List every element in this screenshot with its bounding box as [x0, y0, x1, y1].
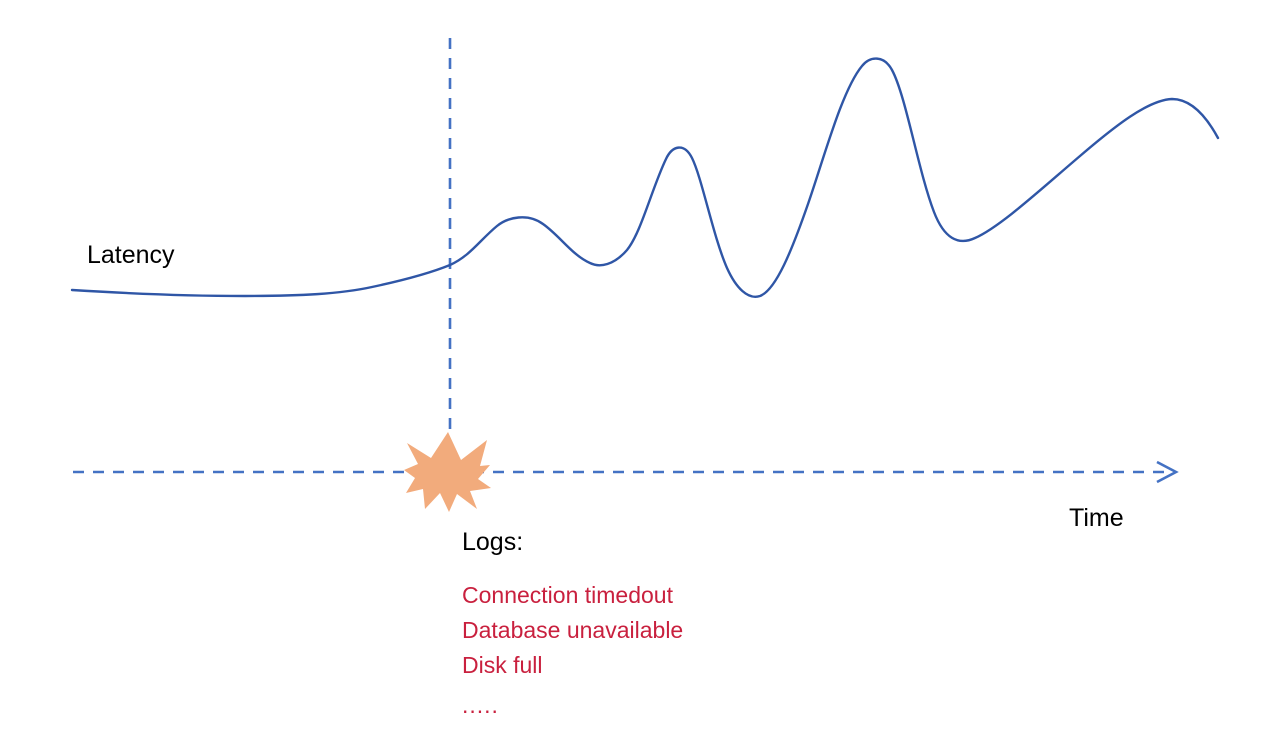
time-axis-label: Time: [1069, 506, 1124, 531]
latency-axis-label: Latency: [87, 243, 175, 268]
time-axis: [73, 462, 1176, 482]
starburst-explosion-icon: [404, 432, 491, 512]
log-entry-ellipsis: .....: [462, 683, 882, 727]
logs-heading: Logs:: [462, 530, 523, 555]
log-entry: Connection timedout: [462, 578, 882, 613]
latency-curve-line: [72, 59, 1218, 297]
log-entry: Database unavailable: [462, 613, 882, 648]
logs-list: Connection timedout Database unavailable…: [462, 578, 882, 727]
log-entry: Disk full: [462, 648, 882, 683]
